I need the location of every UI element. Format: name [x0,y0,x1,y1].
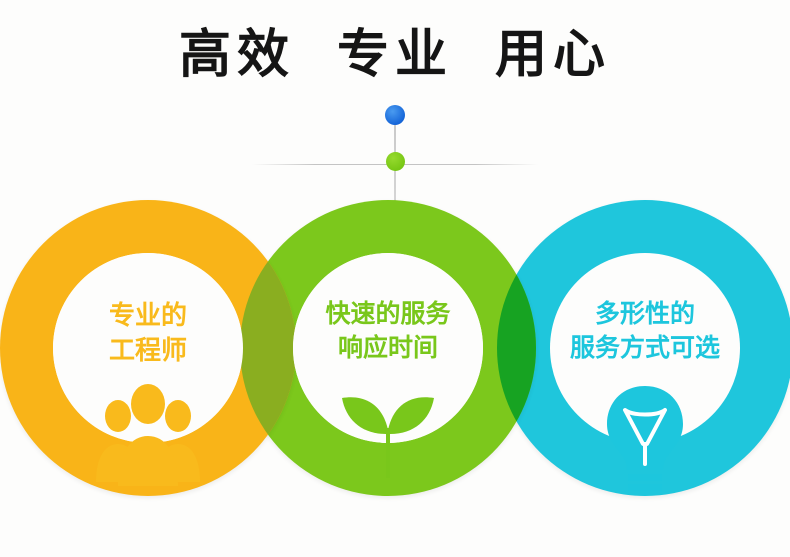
green-dot-icon [386,152,405,171]
card-2-line-1: 快速的服务 [240,298,536,332]
card-2-text: 快速的服务 响应时间 [240,298,536,366]
page-title: 高效专业用心 [0,26,790,86]
card-fast-service-response[interactable]: 快速的服务 响应时间 [240,200,536,496]
card-flexible-service-modes[interactable]: 多形性的 服务方式可选 [497,200,790,496]
sprout-icon [240,382,536,492]
card-3-line-2: 服务方式可选 [497,332,790,366]
lightbulb-icon [497,382,790,492]
card-2-line-2: 响应时间 [240,332,536,366]
card-3-text: 多形性的 服务方式可选 [497,298,790,366]
infographic-canvas: 高效专业用心 专业的 工程师 [0,0,790,557]
card-3-line-1: 多形性的 [497,298,790,332]
headline-word-3: 用心 [495,26,611,86]
headline-word-1: 高效 [179,26,295,86]
blue-dot-icon [385,105,405,125]
headline-word-2: 专业 [337,26,453,86]
